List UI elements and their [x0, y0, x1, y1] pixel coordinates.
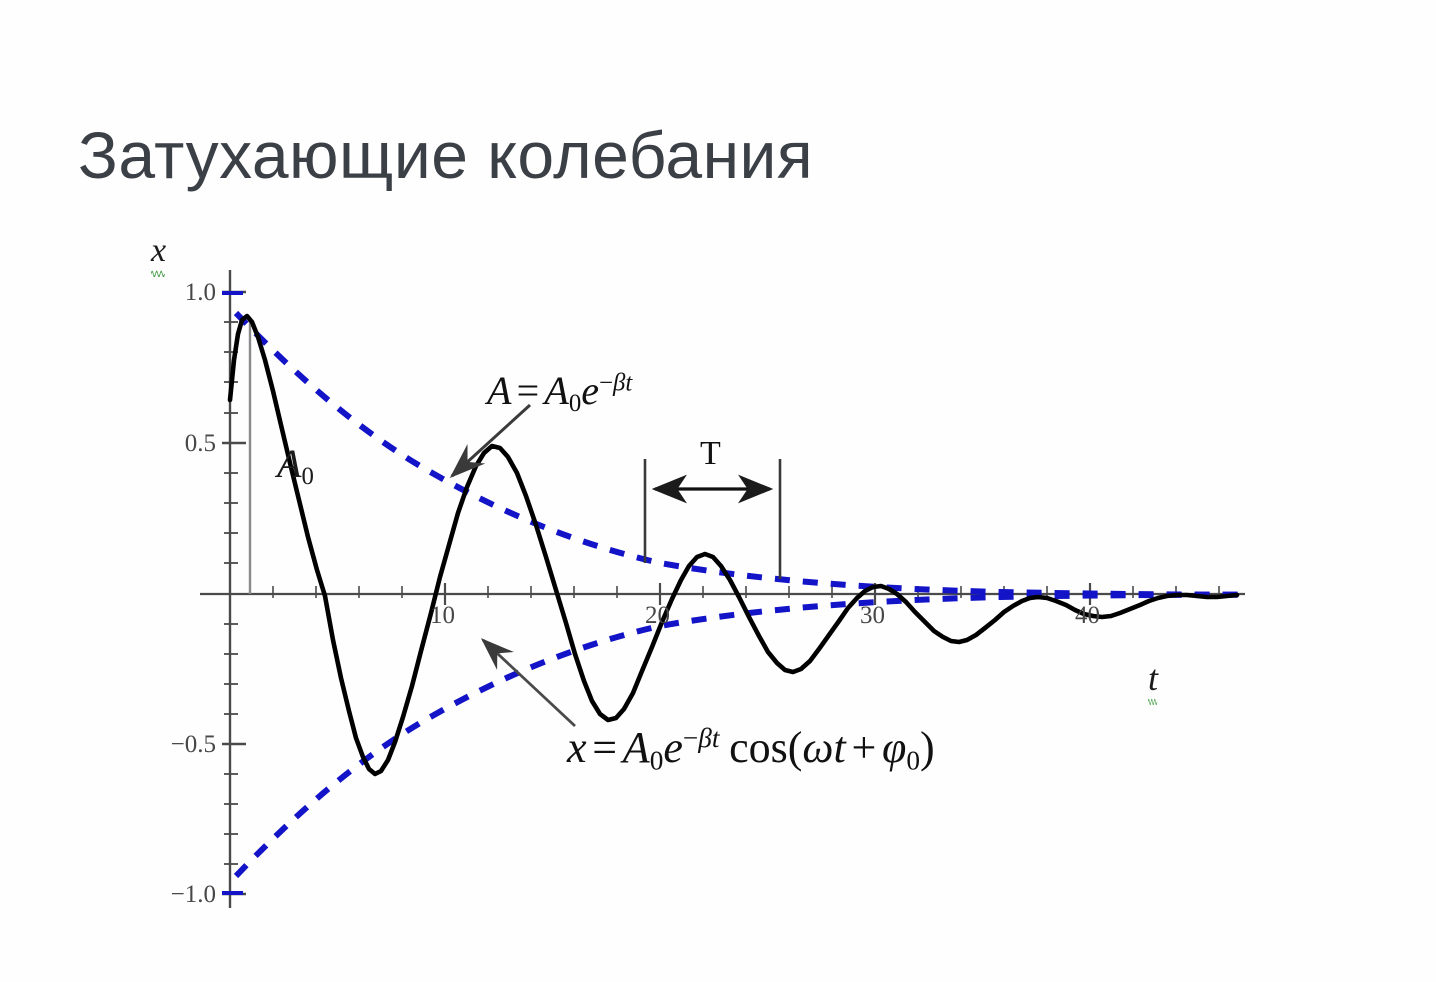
y-axis-label-text: x	[151, 232, 166, 269]
envelope-formula-equals: =	[511, 368, 544, 413]
amplitude-label-subscript: 0	[301, 463, 313, 490]
main-formula-close-paren: )	[920, 723, 935, 772]
damped-oscillation-figure: 1.0 0.5 −0.5 −1.0 10 20 30 40 x t A0	[0, 0, 1436, 982]
x-ticklabel-10: 10	[430, 602, 455, 630]
envelope-formula-exp-minus: −	[599, 369, 613, 396]
main-formula-omega: ω	[802, 723, 833, 772]
axes	[200, 270, 1245, 908]
main-formula-plus: +	[846, 723, 882, 772]
period-label: T	[700, 437, 721, 471]
y-axis-label: x	[151, 234, 166, 268]
y-ticklabel-neg1.0: −1.0	[152, 881, 216, 909]
y-ticklabel-neg0.5: −0.5	[152, 731, 216, 759]
x-ticklabel-30: 30	[860, 602, 885, 630]
envelope-formula-e: e	[581, 368, 599, 413]
main-formula: x=A0e−βtcos(ωt+φ0)	[567, 725, 935, 775]
main-formula-open-paren: (	[788, 723, 803, 772]
main-formula-exp-minus: −	[683, 723, 698, 753]
spellcheck-squiggle-icon	[1148, 696, 1158, 705]
amplitude-label-base: A	[277, 441, 301, 486]
y-ticklabel-1.0: 1.0	[168, 279, 216, 307]
figure-canvas	[0, 0, 1436, 982]
main-formula-equals: =	[587, 723, 623, 772]
main-formula-phi-sub: 0	[906, 746, 920, 776]
main-formula-lhs: x	[567, 723, 587, 772]
x-axis-label: t	[1148, 660, 1158, 696]
main-formula-amp-sub: 0	[650, 746, 664, 776]
upper-envelope-curve	[236, 313, 1240, 595]
slide: Затухающие колебания	[0, 0, 1436, 982]
amplitude-label: A0	[277, 444, 314, 490]
x-ticklabel-40: 40	[1075, 602, 1100, 630]
x-axis-label-text: t	[1148, 658, 1158, 698]
main-formula-amp: A	[623, 723, 650, 772]
envelope-formula-amp-sub: 0	[569, 390, 581, 417]
main-formula-t: t	[833, 723, 845, 772]
main-formula-exp-beta: β	[698, 723, 712, 753]
y-ticklabel-0.5: 0.5	[168, 430, 216, 458]
envelope-formula-exp-t: t	[625, 369, 632, 396]
envelope-formula: A=A0e−βt	[487, 371, 632, 417]
envelope-formula-amp: A	[544, 368, 568, 413]
x-ticklabel-20: 20	[645, 602, 670, 630]
period-label-text: T	[700, 435, 721, 472]
spellcheck-squiggle-icon	[151, 268, 166, 277]
envelope-formula-lhs: A	[487, 368, 511, 413]
main-formula-cos: cos	[719, 723, 787, 772]
envelope-formula-exp-beta: β	[613, 369, 625, 396]
main-formula-phi: φ	[882, 723, 906, 772]
damped-oscillation-curve	[230, 316, 1237, 774]
main-formula-e: e	[663, 723, 683, 772]
